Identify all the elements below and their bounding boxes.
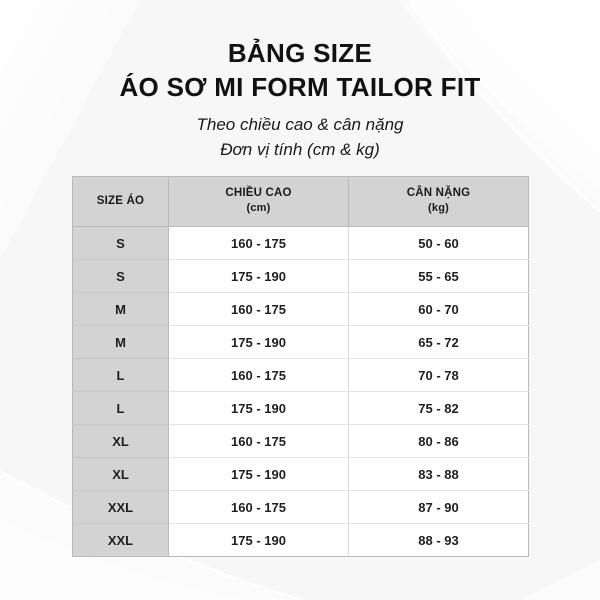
cell-height: 175 - 190 (169, 392, 349, 425)
cell-weight: 55 - 65 (349, 260, 529, 293)
cell-weight: 65 - 72 (349, 326, 529, 359)
table-row: L175 - 19075 - 82 (73, 392, 529, 425)
cell-height: 175 - 190 (169, 524, 349, 557)
column-header-size-label: SIZE ÁO (97, 195, 144, 207)
table-header-row: SIZE ÁO CHIỀU CAO (cm) CÂN NẶNG (kg) (73, 177, 529, 227)
cell-height: 175 - 190 (169, 260, 349, 293)
column-header-size: SIZE ÁO (73, 177, 169, 227)
table-row: L160 - 17570 - 78 (73, 359, 529, 392)
cell-size: L (73, 392, 169, 425)
table-row: S175 - 19055 - 65 (73, 260, 529, 293)
cell-size: XL (73, 458, 169, 491)
table-row: XL175 - 19083 - 88 (73, 458, 529, 491)
table-row: XXL175 - 19088 - 93 (73, 524, 529, 557)
cell-height: 160 - 175 (169, 227, 349, 260)
size-chart-page: BẢNG SIZE ÁO SƠ MI FORM TAILOR FIT Theo … (0, 0, 600, 600)
cell-size: M (73, 293, 169, 326)
cell-height: 175 - 190 (169, 458, 349, 491)
cell-height: 160 - 175 (169, 425, 349, 458)
cell-weight: 50 - 60 (349, 227, 529, 260)
cell-size: L (73, 359, 169, 392)
table-header: SIZE ÁO CHIỀU CAO (cm) CÂN NẶNG (kg) (73, 177, 529, 227)
cell-weight: 80 - 86 (349, 425, 529, 458)
table-row: S160 - 17550 - 60 (73, 227, 529, 260)
cell-weight: 70 - 78 (349, 359, 529, 392)
table-row: XL160 - 17580 - 86 (73, 425, 529, 458)
page-subtitle: Theo chiều cao & cân nặng Đơn vị tính (c… (0, 112, 600, 162)
subtitle-line-1: Theo chiều cao & cân nặng (0, 112, 600, 137)
column-header-height-label: CHIỀU CAO (225, 187, 291, 199)
table-row: M160 - 17560 - 70 (73, 293, 529, 326)
cell-height: 160 - 175 (169, 293, 349, 326)
column-header-weight-label: CÂN NẶNG (407, 187, 471, 199)
cell-weight: 87 - 90 (349, 491, 529, 524)
column-header-height-unit: (cm) (171, 201, 346, 216)
cell-height: 160 - 175 (169, 491, 349, 524)
table-body: S160 - 17550 - 60S175 - 19055 - 65M160 -… (73, 227, 529, 557)
page-title: BẢNG SIZE ÁO SƠ MI FORM TAILOR FIT (0, 36, 600, 104)
cell-height: 175 - 190 (169, 326, 349, 359)
column-header-height: CHIỀU CAO (cm) (169, 177, 349, 227)
title-line-1: BẢNG SIZE (0, 36, 600, 70)
table-row: M175 - 19065 - 72 (73, 326, 529, 359)
cell-size: S (73, 260, 169, 293)
cell-weight: 60 - 70 (349, 293, 529, 326)
size-table: SIZE ÁO CHIỀU CAO (cm) CÂN NẶNG (kg) S16… (72, 176, 529, 557)
cell-size: XL (73, 425, 169, 458)
cell-size: XXL (73, 491, 169, 524)
cell-size: S (73, 227, 169, 260)
cell-size: XXL (73, 524, 169, 557)
cell-size: M (73, 326, 169, 359)
cell-weight: 75 - 82 (349, 392, 529, 425)
column-header-weight-unit: (kg) (351, 201, 526, 216)
cell-height: 160 - 175 (169, 359, 349, 392)
cell-weight: 88 - 93 (349, 524, 529, 557)
title-line-2: ÁO SƠ MI FORM TAILOR FIT (0, 70, 600, 104)
table-row: XXL160 - 17587 - 90 (73, 491, 529, 524)
subtitle-line-2: Đơn vị tính (cm & kg) (0, 137, 600, 162)
column-header-weight: CÂN NẶNG (kg) (349, 177, 529, 227)
cell-weight: 83 - 88 (349, 458, 529, 491)
